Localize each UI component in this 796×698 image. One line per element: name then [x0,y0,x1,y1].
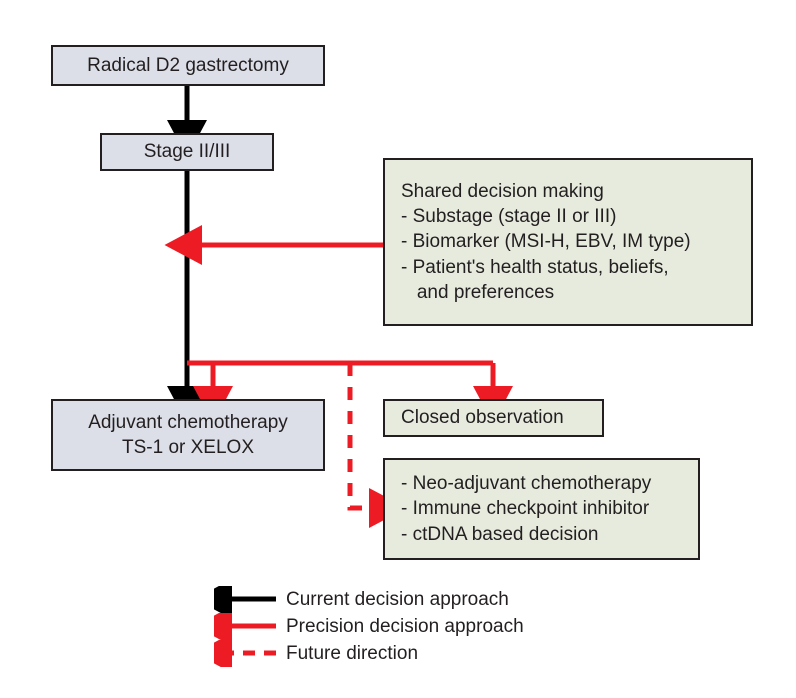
legend-label-precision: Precision decision approach [286,616,524,638]
shared-decision-line-2: - Substage (stage II or III) [401,204,616,229]
left-arrow-dashed-red-icon [214,640,286,667]
legend-item-precision: Precision decision approach [214,613,554,640]
legend-label-future: Future direction [286,643,418,665]
legend-item-current: Current decision approach [214,586,554,613]
legend-item-future: Future direction [214,640,554,667]
shared-decision-line-3: - Biomarker (MSI-H, EBV, IM type) [401,229,691,254]
flowchart-canvas: Radical D2 gastrectomy Stage II/III Shar… [0,0,796,698]
node-future-options[interactable]: - Neo-adjuvant chemotherapy - Immune che… [383,458,700,560]
node-shared-decision[interactable]: Shared decision making - Substage (stage… [383,158,753,326]
future-options-line-3: - ctDNA based decision [401,522,599,547]
node-radical-gastrectomy-label: Radical D2 gastrectomy [87,53,289,78]
left-arrow-solid-black-icon [214,586,286,613]
left-arrow-solid-red-icon [214,613,286,640]
edge-future-direction [350,363,375,508]
legend: Current decision approach Precision deci… [214,586,554,667]
adjuvant-line-1: Adjuvant chemotherapy [88,410,288,435]
node-closed-observation[interactable]: Closed observation [383,399,604,437]
shared-decision-line-4: - Patient's health status, beliefs, [401,255,669,280]
node-adjuvant-chemotherapy[interactable]: Adjuvant chemotherapy TS-1 or XELOX [51,399,325,471]
shared-decision-line-1: Shared decision making [401,179,604,204]
node-stage-label: Stage II/III [144,139,231,164]
legend-label-current: Current decision approach [286,589,509,611]
adjuvant-line-2: TS-1 or XELOX [122,435,254,460]
future-options-line-1: - Neo-adjuvant chemotherapy [401,471,651,496]
node-stage[interactable]: Stage II/III [100,133,274,171]
node-closed-observation-label: Closed observation [401,405,564,430]
future-options-line-2: - Immune checkpoint inhibitor [401,496,649,521]
shared-decision-line-5: and preferences [401,280,554,305]
node-radical-gastrectomy[interactable]: Radical D2 gastrectomy [51,45,325,86]
